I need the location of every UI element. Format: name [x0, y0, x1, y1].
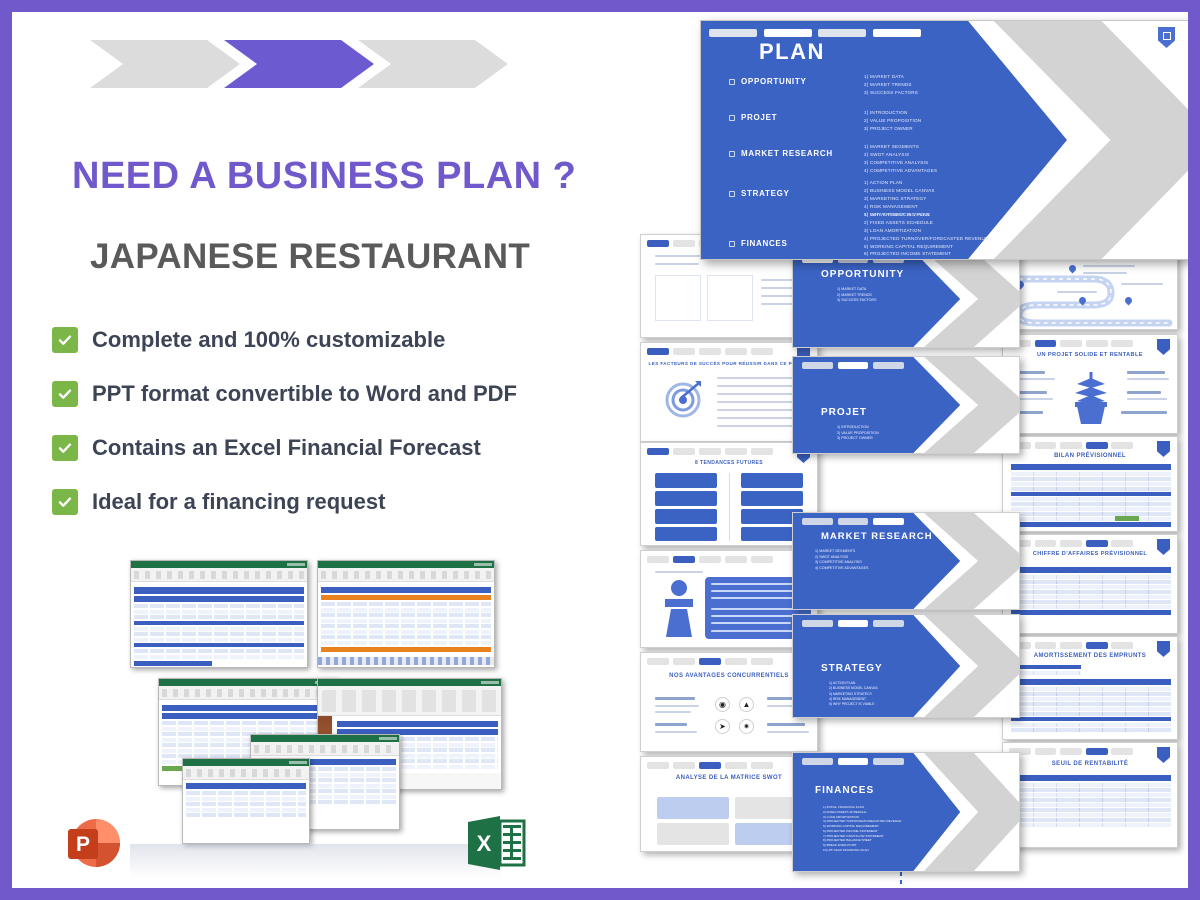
excel-sheet-2	[317, 560, 495, 668]
chevron-step-3	[358, 40, 508, 88]
doc-title: SEUIL DE RENTABILITÉ	[1003, 761, 1177, 768]
excel-titlebar	[318, 679, 501, 686]
doc-tabs	[1009, 540, 1137, 547]
excel-statusbar	[318, 657, 494, 665]
excel-preview-collage	[122, 552, 502, 882]
excel-grid	[131, 582, 307, 668]
section-slide-projet: PROJET 1) INTRODUCTION 2) VALUE PROPOSIT…	[792, 356, 1020, 454]
doc-title: CHIFFRE D'AFFAIRES PRÉVISIONNEL	[1003, 551, 1177, 557]
doc-title: LES FACTEURS DE SUCCÈS POUR RÉUSSIR DANS…	[641, 361, 817, 366]
doc-title: AMORTISSEMENT DES EMPRUNTS	[1003, 653, 1177, 660]
plan-section-items: 1) MARKET SEGMENTS 2) SWOT ANALYSIS 3) C…	[864, 143, 937, 175]
excel-ribbon	[131, 568, 307, 582]
excel-titlebar	[159, 679, 335, 686]
target-icon	[661, 377, 705, 421]
feature-list: Complete and 100% customizable PPT forma…	[52, 327, 612, 543]
shield-icon	[1158, 27, 1175, 48]
section-slide-opportunity: OPPORTUNITY 1) MARKET DATA 2) MARKET TRE…	[792, 250, 1020, 348]
trend-box	[741, 473, 803, 488]
map-pin-icon	[1125, 297, 1132, 307]
excel-logo: X	[464, 812, 528, 874]
financial-table	[1011, 464, 1171, 527]
excel-ribbon	[159, 686, 335, 700]
trend-box	[655, 491, 717, 506]
section-slide-market-research: MARKET RESEARCH 1) MARKET SEGMENTS 2) SW…	[792, 512, 1020, 610]
excel-ribbon	[183, 766, 309, 780]
section-list: 1) INITIAL FINANCING PLAN 2) FIXED ASSET…	[823, 805, 901, 853]
roadmap-icon	[1007, 259, 1175, 327]
doc-title: ANALYSE DE LA MATRICE SWOT	[641, 775, 817, 782]
doc-slide-balance-sheet: BILAN PRÉVISIONNEL	[1002, 436, 1178, 532]
checkbox-icon	[729, 151, 735, 157]
financial-table	[1011, 567, 1171, 615]
excel-sheet-6	[182, 758, 310, 844]
svg-text:P: P	[76, 833, 90, 856]
doc-tabs	[1009, 748, 1137, 755]
powerpoint-logo: P	[62, 812, 124, 874]
check-icon	[52, 327, 78, 353]
icon-box	[655, 275, 701, 321]
chevron-step-1	[90, 40, 240, 88]
feature-label: Complete and 100% customizable	[92, 327, 445, 353]
trend-box	[655, 527, 717, 541]
doc-tabs	[1009, 340, 1137, 347]
poster-frame: NEED A BUSINESS PLAN ? JAPANESE RESTAURA…	[12, 12, 1188, 888]
excel-titlebar	[251, 735, 399, 742]
divider	[729, 473, 730, 541]
plan-title: PLAN	[759, 39, 825, 65]
plan-section-items: 1) MARKET DATA 2) MARKET TRENDS 3) SUCCE…	[864, 73, 918, 97]
plan-section-items: 1) INITIAL FINANCING PLAN 2) FIXED ASSET…	[864, 211, 988, 260]
swot-opportunities	[657, 823, 729, 845]
amortization-table	[1011, 679, 1171, 717]
doc-tabs	[1009, 642, 1137, 649]
plan-section-label: FINANCES	[729, 239, 788, 248]
gear-icon: ✷	[739, 719, 754, 734]
cursor-icon: ➤	[715, 719, 730, 734]
total-highlight	[1115, 516, 1139, 521]
speaker-podium-icon	[657, 579, 701, 641]
excel-titlebar	[318, 561, 494, 568]
section-list: 1) ACTION PLAN 2) BUSINESS MODEL CANVAS …	[829, 681, 878, 707]
check-icon	[52, 381, 78, 407]
excel-grid	[318, 582, 494, 657]
doc-tabs	[647, 762, 777, 769]
section-title: MARKET RESEARCH	[821, 531, 933, 542]
section-slide-strategy: STRATEGY 1) ACTION PLAN 2) BUSINESS MODE…	[792, 614, 1020, 718]
doc-title: 8 TENDANCES FUTURES	[641, 461, 817, 467]
plant-icon	[1065, 368, 1117, 426]
doc-title: BILAN PRÉVISIONNEL	[1003, 453, 1177, 460]
doc-slide-loan-amortization: AMORTISSEMENT DES EMPRUNTS	[1002, 636, 1178, 740]
page-subtitle: JAPANESE RESTAURANT	[90, 237, 610, 277]
financial-table	[1011, 775, 1171, 828]
check-icon	[52, 435, 78, 461]
section-title: STRATEGY	[821, 663, 883, 674]
checkbox-icon	[729, 241, 735, 247]
excel-ribbon	[318, 568, 494, 582]
umbrella-icon: ▲	[739, 697, 754, 712]
section-title: FINANCES	[815, 785, 874, 796]
plan-section-items: 1) INTRODUCTION 2) VALUE PROPOSITION 3) …	[864, 109, 921, 133]
section-list: 1) INTRODUCTION 2) VALUE PROPOSITION 3) …	[837, 425, 879, 442]
feature-label: PPT format convertible to Word and PDF	[92, 381, 517, 407]
list-item: Ideal for a financing request	[52, 489, 612, 515]
plan-slide: PLAN OPPORTUNITY 1) MARKET DATA 2) MARKE…	[700, 20, 1188, 260]
doc-subtitle	[662, 683, 796, 687]
trend-box	[655, 509, 717, 524]
doc-slide-value-proposition: UN PROJET SOLIDE ET RENTABLE	[1002, 334, 1178, 434]
collage-reflection	[130, 844, 502, 878]
chevron-progress-bar	[90, 40, 520, 90]
excel-ribbon	[318, 686, 501, 716]
checkbox-icon	[729, 115, 735, 121]
list-item: Complete and 100% customizable	[52, 327, 612, 353]
section-title: OPPORTUNITY	[821, 269, 904, 280]
doc-tabs	[1009, 442, 1137, 449]
doc-title: NOS AVANTAGES CONCURRENTIELS	[641, 673, 817, 680]
excel-grid	[183, 780, 309, 822]
plan-section-label: MARKET RESEARCH	[729, 149, 833, 158]
section-slide-finances: FINANCES 1) INITIAL FINANCING PLAN 2) FI…	[792, 752, 1020, 872]
doc-slide-break-even: SEUIL DE RENTABILITÉ	[1002, 742, 1178, 848]
trend-box	[741, 491, 803, 506]
checkbox-icon	[729, 191, 735, 197]
section-tabs	[802, 620, 904, 627]
section-list: 1) MARKET DATA 2) MARKET TRENDS 3) SUCCE…	[837, 287, 876, 304]
plan-tabs	[709, 29, 919, 37]
slides-showcase: LES FACTEURS DE SUCCÈS POUR RÉUSSIR DANS…	[612, 12, 1188, 888]
plan-section-label: STRATEGY	[729, 189, 790, 198]
list-item: Contains an Excel Financial Forecast	[52, 435, 612, 461]
feature-label: Contains an Excel Financial Forecast	[92, 435, 481, 461]
excel-titlebar	[183, 759, 309, 766]
list-item: PPT format convertible to Word and PDF	[52, 381, 612, 407]
excel-titlebar	[131, 561, 307, 568]
plan-section-label: PROJET	[729, 113, 777, 122]
check-icon	[52, 489, 78, 515]
map-pin-icon	[1069, 265, 1076, 275]
doc-tabs	[647, 556, 777, 563]
doc-tabs	[647, 658, 777, 665]
doc-tabs	[647, 448, 777, 455]
promo-panel: NEED A BUSINESS PLAN ? JAPANESE RESTAURA…	[12, 12, 612, 888]
plan-section-label: OPPORTUNITY	[729, 77, 806, 86]
excel-ribbon	[251, 742, 399, 756]
binoculars-icon: ◉	[715, 697, 730, 712]
section-title: PROJET	[821, 407, 867, 418]
page-title: NEED A BUSINESS PLAN ?	[72, 155, 592, 198]
doc-tabs	[647, 348, 777, 355]
section-tabs	[802, 758, 904, 765]
swot-strengths	[657, 797, 729, 819]
feature-label: Ideal for a financing request	[92, 489, 385, 515]
doc-slide-forecast-revenue: CHIFFRE D'AFFAIRES PRÉVISIONNEL	[1002, 534, 1178, 634]
trend-box	[655, 473, 717, 488]
chevron-step-2-active	[224, 40, 374, 88]
section-tabs	[802, 362, 904, 369]
section-tabs	[802, 518, 904, 525]
svg-text:X: X	[477, 831, 492, 856]
section-list: 1) MARKET SEGMENTS 2) SWOT ANALYSIS 3) C…	[815, 549, 868, 571]
excel-sheet-1	[130, 560, 308, 668]
amortization-total-table	[1011, 717, 1171, 733]
checkbox-icon	[729, 79, 735, 85]
map-pin-icon	[1079, 297, 1086, 307]
doc-title: UN PROJET SOLIDE ET RENTABLE	[1003, 352, 1177, 358]
icon-box	[707, 275, 753, 321]
loan-summary-table	[1011, 665, 1081, 676]
